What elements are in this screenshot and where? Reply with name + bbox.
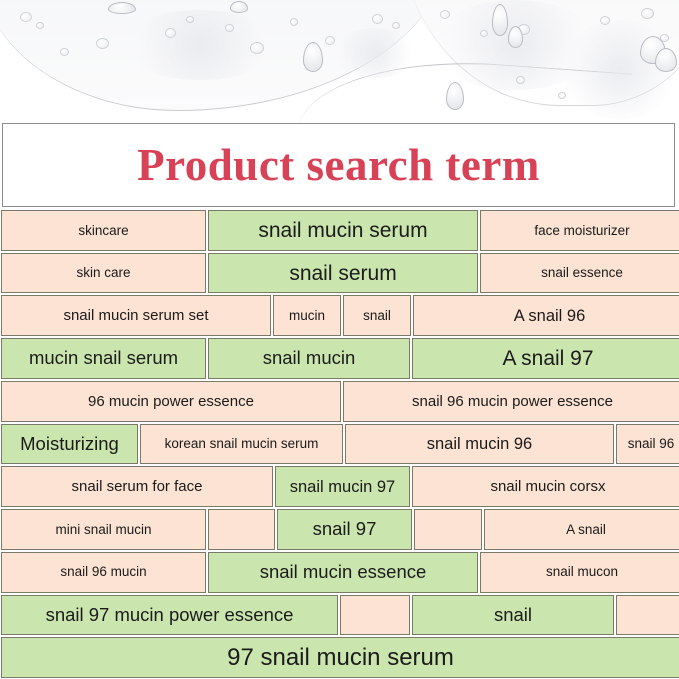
keyword-cell-snail-mucin-serum: snail mucin serum	[208, 210, 478, 251]
keyword-cell-skin-care: skin care	[1, 253, 206, 294]
gel-droplet	[108, 2, 136, 14]
keyword-row: snail 97 mucin power essencesnail	[0, 594, 679, 637]
keyword-cell-moisturizing: Moisturizing	[1, 424, 138, 465]
keyword-row: Moisturizingkorean snail mucin serumsnai…	[0, 423, 679, 466]
keyword-grid: skincaresnail mucin serumface moisturize…	[0, 209, 679, 679]
keyword-cell-face-moisturizer: face moisturizer	[480, 210, 679, 251]
gel-bubble	[36, 22, 44, 29]
keyword-row: 96 mucin power essencesnail 96 mucin pow…	[0, 380, 679, 423]
keyword-cell-empty	[616, 595, 679, 636]
keyword-row: skin caresnail serumsnail essence	[0, 252, 679, 295]
keyword-cell-skincare: skincare	[1, 210, 206, 251]
keyword-cell-snail: snail	[412, 595, 614, 636]
keyword-cell-empty	[340, 595, 410, 636]
gel-bubble	[516, 76, 525, 84]
keyword-cell-snail-97-mucin-power-essence: snail 97 mucin power essence	[1, 595, 338, 636]
keyword-cell-a-snail-97: A snail 97	[412, 338, 679, 379]
gel-bubble	[250, 42, 264, 54]
snail-mucin-gel-texture-photo	[0, 0, 679, 123]
keyword-cell-mini-snail-mucin: mini snail mucin	[1, 509, 206, 550]
gel-bubble	[96, 38, 109, 49]
gel-bubble	[440, 10, 450, 19]
keyword-row: mucin snail serumsnail mucinA snail 97	[0, 337, 679, 380]
keyword-cell-mucin-snail-serum: mucin snail serum	[1, 338, 206, 379]
keyword-cell-snail-serum-for-face: snail serum for face	[1, 466, 273, 507]
keyword-cell-snail-97: snail 97	[277, 509, 412, 550]
gel-bubble	[60, 48, 69, 56]
keyword-cell-snail-96: snail 96	[616, 424, 679, 465]
keyword-row: snail mucin serum setmucinsnailA snail 9…	[0, 294, 679, 337]
keyword-row: skincaresnail mucin serumface moisturize…	[0, 209, 679, 252]
keyword-cell-96-mucin-power-essence: 96 mucin power essence	[1, 381, 341, 422]
keyword-row: snail 96 mucinsnail mucin essencesnail m…	[0, 551, 679, 594]
keyword-cell-snail-96-mucin-power-essence: snail 96 mucin power essence	[343, 381, 679, 422]
keyword-cell-empty	[414, 509, 482, 550]
gel-bubble	[186, 16, 194, 23]
product-search-term-infographic: Product search term skincaresnail mucin …	[0, 0, 679, 679]
gel-bubble	[392, 22, 400, 29]
keyword-row: 97 snail mucin serum	[0, 636, 679, 679]
gel-bubble	[20, 12, 32, 22]
keyword-cell-snail-mucon: snail mucon	[480, 552, 679, 593]
keyword-row: snail serum for facesnail mucin 97snail …	[0, 465, 679, 508]
keyword-cell-97-snail-mucin-serum: 97 snail mucin serum	[1, 637, 679, 678]
keyword-cell-snail: snail	[343, 295, 411, 336]
keyword-cell-snail-serum: snail serum	[208, 253, 478, 294]
keyword-cell-snail-96-mucin: snail 96 mucin	[1, 552, 206, 593]
gel-bubble	[480, 30, 488, 37]
gel-bubble	[558, 92, 566, 99]
keyword-cell-a-snail-96: A snail 96	[413, 295, 679, 336]
gel-droplet	[492, 4, 508, 36]
gel-bubble	[325, 36, 335, 45]
gel-bubble	[641, 8, 654, 19]
gel-bubble	[225, 24, 234, 32]
keyword-cell-a-snail: A snail	[484, 509, 679, 550]
title-panel: Product search term	[2, 123, 675, 207]
keyword-cell-snail-mucin-96: snail mucin 96	[345, 424, 614, 465]
keyword-cell-mucin: mucin	[273, 295, 341, 336]
keyword-cell-snail-mucin-essence: snail mucin essence	[208, 552, 478, 593]
gel-bubble	[165, 28, 176, 38]
gel-droplet	[446, 82, 464, 110]
keyword-cell-snail-mucin-97: snail mucin 97	[275, 466, 410, 507]
keyword-cell-snail-mucin-corsx: snail mucin corsx	[412, 466, 679, 507]
keyword-row: mini snail mucinsnail 97A snail	[0, 508, 679, 551]
keyword-cell-snail-mucin-serum-set: snail mucin serum set	[1, 295, 271, 336]
gel-droplet	[303, 42, 323, 72]
gel-bubble	[372, 14, 383, 24]
keyword-cell-snail-essence: snail essence	[480, 253, 679, 294]
gel-droplet	[508, 26, 523, 48]
gel-droplet	[655, 48, 677, 72]
keyword-cell-snail-mucin: snail mucin	[208, 338, 410, 379]
gel-bubble	[290, 18, 298, 26]
gel-bubble	[600, 16, 610, 25]
page-title: Product search term	[137, 139, 540, 191]
gel-droplet	[230, 1, 248, 13]
keyword-cell-empty	[208, 509, 275, 550]
keyword-cell-korean-snail-mucin-serum: korean snail mucin serum	[140, 424, 343, 465]
gel-smudge	[330, 28, 420, 78]
